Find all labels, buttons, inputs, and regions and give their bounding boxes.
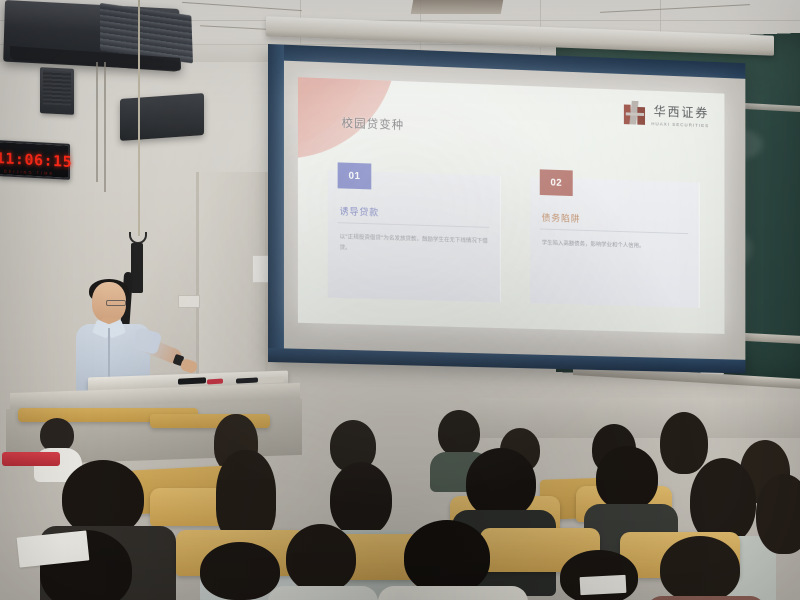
projection-screen: 校园贷变种 华西证券 HUAXI SECURITIES 01 诱导贷款 以"正规… <box>268 44 745 373</box>
hanging-cord <box>138 0 140 236</box>
classroom-presentation-photo: 校园贷变种 华西证券 HUAXI SECURITIES 01 诱导贷款 以"正规… <box>0 0 800 600</box>
slide-cards: 01 诱导贷款 以"正规投资借贷"为名发放贷款，鼓励学生在无下线情况下借贷。 0… <box>328 170 702 308</box>
card-body-text: 学生陷入高额债务，影响学业和个人信用。 <box>542 238 688 253</box>
company-logo: 华西证券 HUAXI SECURITIES <box>623 100 709 129</box>
secondary-ceiling-unit <box>120 93 204 141</box>
huaxi-logo-mark <box>623 101 646 125</box>
led-wall-clock: 11:06:15 BEIJING TIME <box>0 140 70 180</box>
card-divider <box>338 222 489 228</box>
red-bag <box>2 452 60 466</box>
ceiling-light-panel <box>411 0 503 14</box>
slide-title: 校园贷变种 <box>342 115 405 133</box>
audience-area: FRIDAY YES <box>0 400 800 600</box>
card-heading: 诱导贷款 <box>340 204 380 218</box>
card-number-badge: 02 <box>540 169 573 196</box>
notebook <box>580 575 627 595</box>
wall-speaker <box>40 67 74 115</box>
logo-english-text: HUAXI SECURITIES <box>651 121 709 128</box>
wall-conduit <box>96 62 98 182</box>
slide-card: 02 债务陷阱 学生陷入高额债务，影响学业和个人信用。 <box>530 177 700 308</box>
card-heading: 债务陷阱 <box>542 211 581 225</box>
card-number-badge: 01 <box>338 162 372 189</box>
logo-chinese-text: 华西证券 <box>654 101 710 122</box>
clock-time-display: 11:06:15 <box>0 149 72 171</box>
slide-card: 01 诱导贷款 以"正规投资借贷"为名发放贷款，鼓励学生在无下线情况下借贷。 <box>328 170 501 302</box>
wall-conduit <box>104 62 106 192</box>
projected-slide: 校园贷变种 华西证券 HUAXI SECURITIES 01 诱导贷款 以"正规… <box>298 77 725 334</box>
screen-left-border <box>268 44 284 362</box>
card-divider <box>540 229 688 235</box>
card-body-text: 以"正规投资借贷"为名发放贷款，鼓励学生在无下线情况下借贷。 <box>340 232 490 258</box>
red-desk-object <box>207 379 223 385</box>
presenter-glasses <box>106 300 126 306</box>
